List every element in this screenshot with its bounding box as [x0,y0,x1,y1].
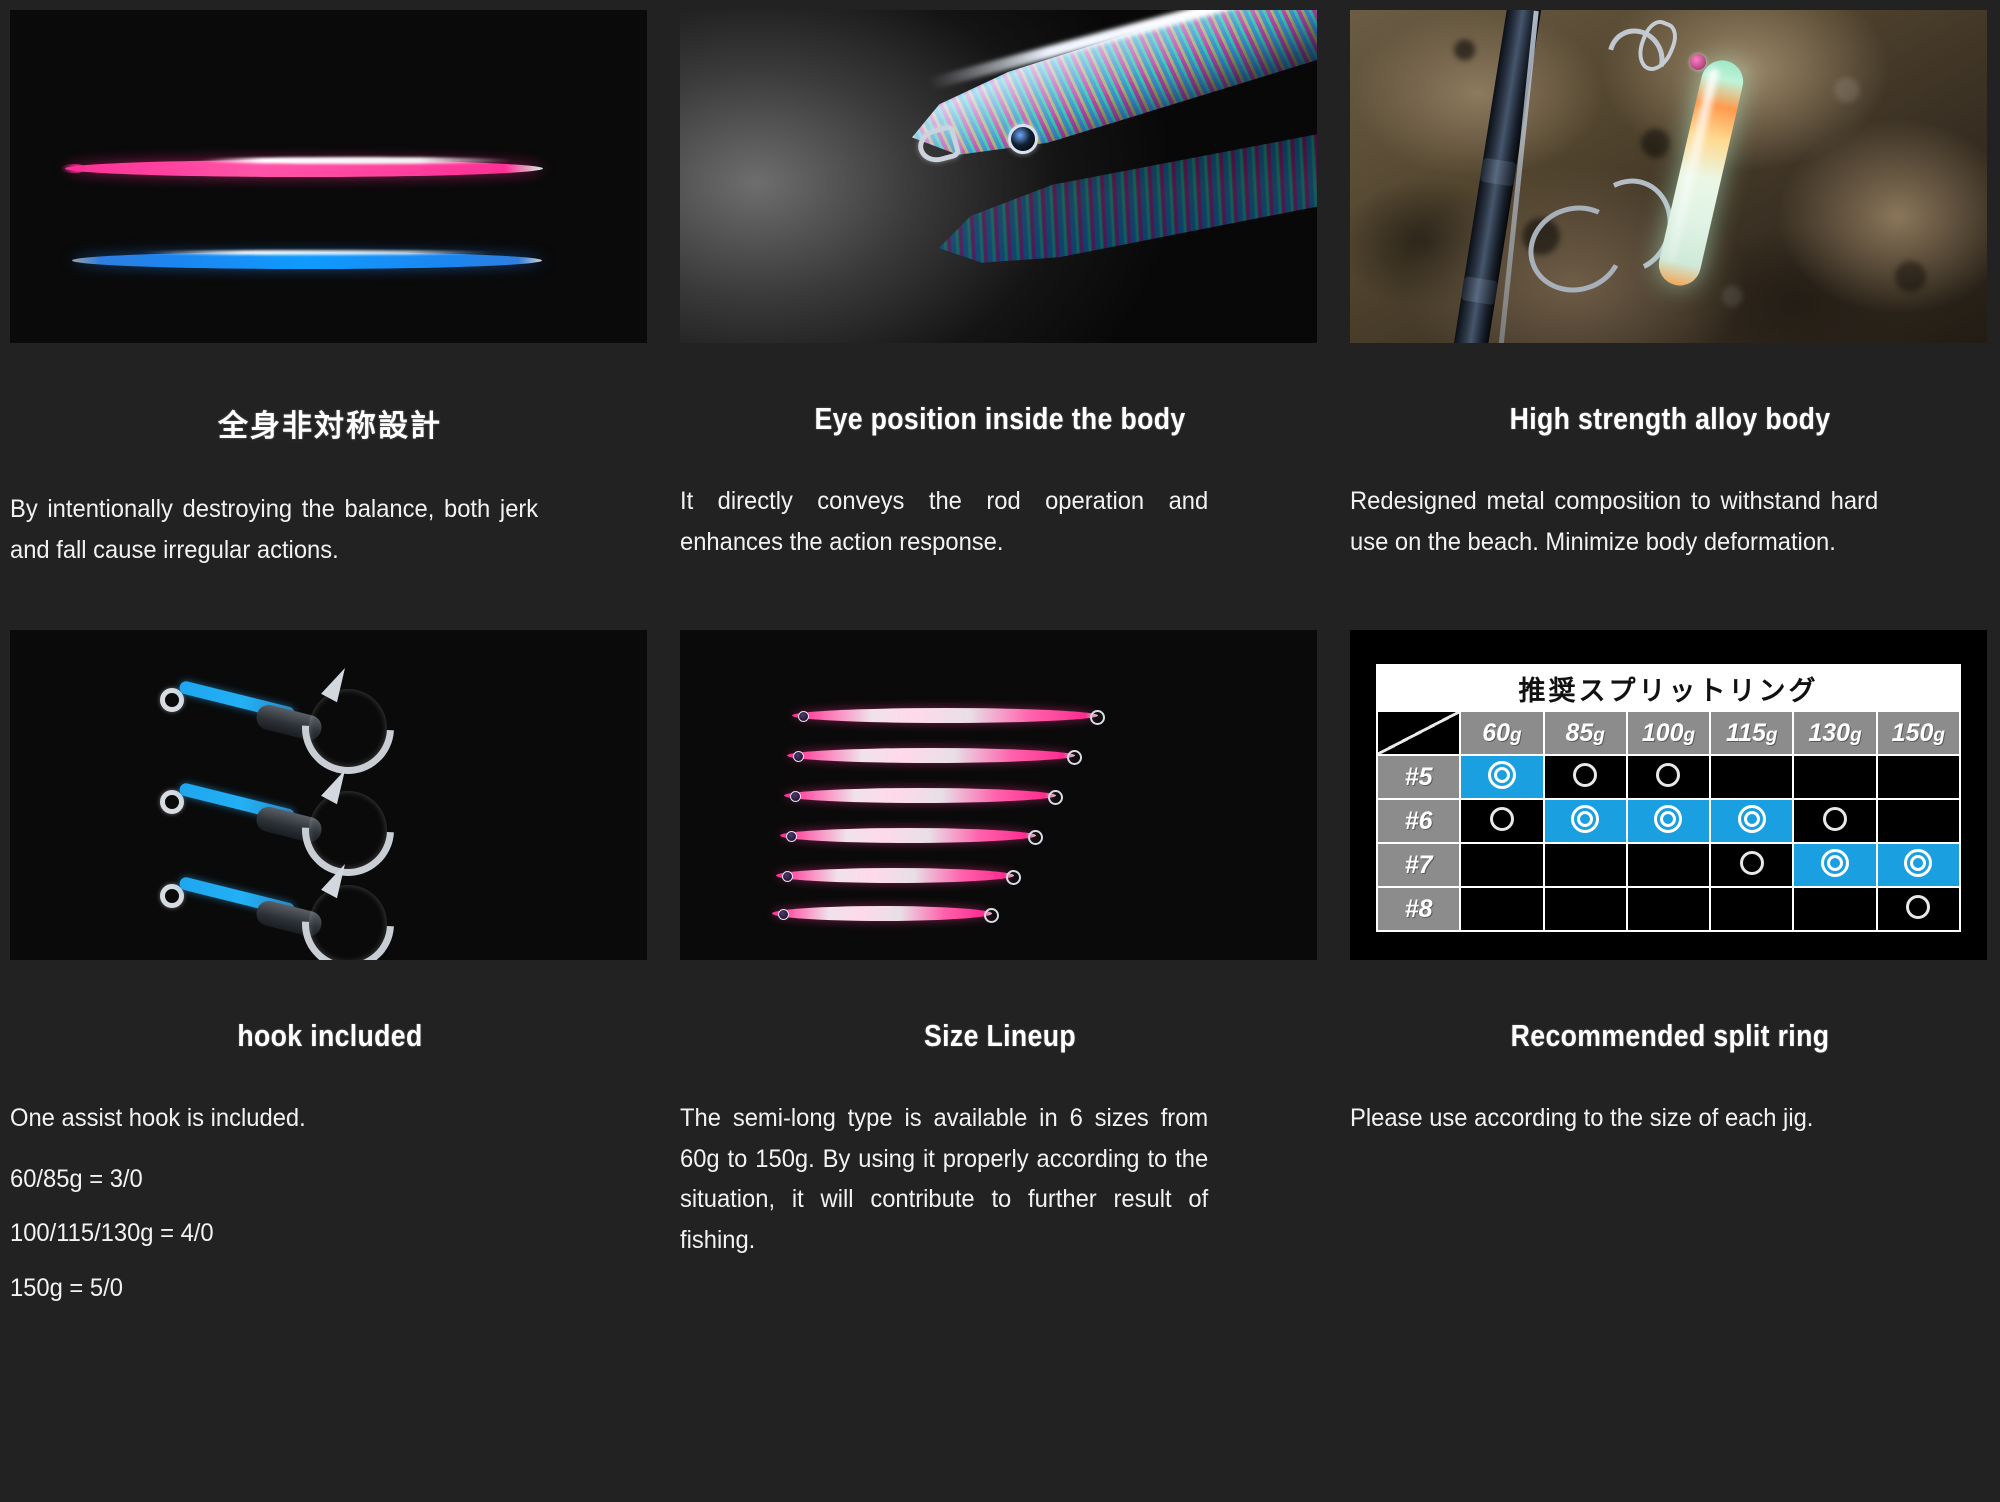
hook-spec-list: 60/85g = 3/0 100/115/130g = 4/0 150g = 5… [10,1159,538,1309]
cell-5-150g [1877,755,1960,799]
single-circle-icon [1904,893,1932,921]
double-circle-icon [1571,805,1599,833]
image-glow-jig-on-rod-and-rocks [1350,10,1987,343]
table-title-row: 推奨スプリットリング [1377,665,1960,711]
column-header-150g: 150g [1877,711,1960,755]
cell-5-60g [1460,755,1543,799]
lineup-jig-3 [784,788,1056,803]
lineup-jig-1 [792,708,1098,723]
row-header-7: #7 [1377,843,1460,887]
table-row: #8 [1377,887,1960,931]
cell-7-100g [1627,843,1710,887]
double-circle-icon [1821,849,1849,877]
grid-gutter [1990,10,2000,570]
row-header-8: #8 [1377,887,1460,931]
single-circle-icon [1738,849,1766,877]
column-header-130g: 130g [1793,711,1876,755]
feature-body-split-ring: Please use according to the size of each… [1350,1098,1878,1139]
double-circle-icon [1488,761,1516,789]
cell-6-150g [1877,799,1960,843]
table-row: #6 [1377,799,1960,843]
single-circle-icon [1571,761,1599,789]
feature-heading-eye-position: Eye position inside the body [725,401,1275,437]
single-circle-icon [1654,761,1682,789]
jig-pink [65,160,543,177]
feature-card-asymmetric-design: 全身非対称設計 By intentionally destroying the … [10,10,650,570]
table-header-row: 60g 85g 100g 115g 130g 150g [1377,711,1960,755]
lineup-jig-4 [780,828,1036,843]
feature-card-alloy-body: High strength alloy body Redesigned meta… [1350,10,1990,570]
row-header-6: #6 [1377,799,1460,843]
cell-6-130g [1793,799,1876,843]
double-circle-icon [1654,805,1682,833]
feature-grid: 全身非対称設計 By intentionally destroying the … [0,0,2000,1308]
grid-gutter [1320,570,1350,1308]
image-split-ring-table: 推奨スプリットリング 60g 85g 100g 115g 130g 150g [1350,630,1987,960]
feature-heading-alloy-body: High strength alloy body [1395,401,1945,437]
table-row: #5 [1377,755,1960,799]
image-three-assist-hooks [10,630,647,960]
table-corner-cell [1377,711,1460,755]
feature-heading-split-ring: Recommended split ring [1395,1018,1945,1054]
image-six-jigs-size-lineup [680,630,1317,960]
column-header-115g: 115g [1710,711,1793,755]
lineup-jig-5 [776,868,1014,883]
cell-6-60g [1460,799,1543,843]
cell-6-85g [1544,799,1627,843]
feature-heading-hook-included: hook included [55,1018,605,1054]
image-holographic-jig-head-closeup [680,10,1317,343]
grid-gutter [650,570,680,1308]
grid-gutter [650,10,680,570]
feature-body-size-lineup: The semi-long type is available in 6 siz… [680,1098,1208,1260]
feature-card-hook-included: hook included One assist hook is include… [10,630,650,1308]
split-ring-table: 推奨スプリットリング 60g 85g 100g 115g 130g 150g [1376,664,1961,932]
feature-body-asymmetric-design: By intentionally destroying the balance,… [10,489,538,570]
cell-7-115g [1710,843,1793,887]
feature-body-hook-included: One assist hook is included. [10,1098,538,1139]
cell-8-60g [1460,887,1543,931]
cell-8-85g [1544,887,1627,931]
product-feature-page: 全身非対称設計 By intentionally destroying the … [0,0,2000,1502]
cell-7-150g [1877,843,1960,887]
cell-6-115g [1710,799,1793,843]
single-circle-icon [1821,805,1849,833]
cell-7-85g [1544,843,1627,887]
double-circle-icon [1904,849,1932,877]
image-two-jigs-pink-and-blue [10,10,647,343]
cell-7-60g [1460,843,1543,887]
feature-card-split-ring: 推奨スプリットリング 60g 85g 100g 115g 130g 150g [1350,630,1990,1308]
cell-5-130g [1793,755,1876,799]
feature-heading-asymmetric-design: 全身非対称設計 [10,401,650,445]
feature-body-alloy-body: Redesigned metal composition to withstan… [1350,481,1878,562]
double-circle-icon [1738,805,1766,833]
hook-spec-item: 60/85g = 3/0 [10,1159,538,1200]
lineup-jig-6 [772,906,992,921]
column-header-100g: 100g [1627,711,1710,755]
single-circle-icon [1488,805,1516,833]
cell-8-130g [1793,887,1876,931]
cell-7-130g [1793,843,1876,887]
grid-gutter [1320,10,1350,570]
cell-5-85g [1544,755,1627,799]
grid-gutter [1990,570,2000,1308]
cell-8-100g [1627,887,1710,931]
feature-card-size-lineup: Size Lineup The semi-long type is availa… [680,630,1320,1308]
cell-5-100g [1627,755,1710,799]
column-header-85g: 85g [1544,711,1627,755]
hook-spec-item: 150g = 5/0 [10,1268,538,1309]
row-header-5: #5 [1377,755,1460,799]
hook-spec-item: 100/115/130g = 4/0 [10,1213,538,1254]
column-header-60g: 60g [1460,711,1543,755]
feature-card-eye-position: Eye position inside the body It directly… [680,10,1320,570]
cell-8-150g [1877,887,1960,931]
jig-blue [72,252,542,269]
table-row: #7 [1377,843,1960,887]
cell-8-115g [1710,887,1793,931]
cell-5-115g [1710,755,1793,799]
feature-heading-size-lineup: Size Lineup [725,1018,1275,1054]
split-ring-table-title: 推奨スプリットリング [1377,665,1960,711]
lineup-jig-2 [787,748,1075,763]
jig-eye [1690,54,1706,70]
feature-body-eye-position: It directly conveys the rod operation an… [680,481,1208,562]
cell-6-100g [1627,799,1710,843]
jig-eye [1008,124,1038,154]
